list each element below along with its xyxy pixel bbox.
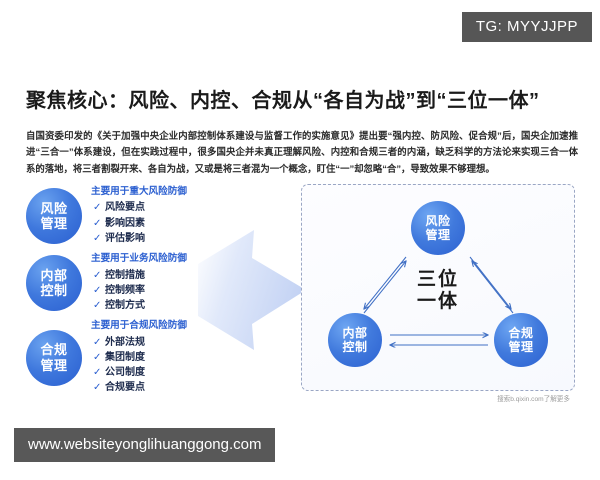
pillar-body-risk: 主要用于重大风险防御 ✓ 风险要点 ✓ 影响因素 ✓ 评估影响 [91, 186, 187, 246]
pillar-circle-risk: 风险 管理 [26, 188, 82, 244]
center-label-line2: 一体 [395, 291, 481, 313]
page-title: 聚焦核心：风险、内控、合规从“各自为战”到“三位一体” [26, 84, 540, 113]
pillar-item: ✓ 影响因素 [91, 216, 187, 231]
triangle-diagram-panel: 风险 管理 内部 控制 合规 管理 三位 一体 搜索b.qixin.com了解更… [301, 184, 575, 391]
pillar-item-label: 控制方式 [105, 300, 145, 311]
pillar-item-label: 控制措施 [105, 270, 145, 281]
node-internal-control: 内部 控制 [328, 313, 382, 367]
node-line1: 合规 [508, 326, 533, 340]
check-icon: ✓ [93, 231, 101, 246]
pillar-item: ✓ 公司制度 [91, 365, 187, 380]
check-icon: ✓ [93, 283, 101, 298]
check-icon: ✓ [93, 216, 101, 231]
pillar-circle-line2: 管理 [40, 216, 67, 231]
check-icon: ✓ [93, 298, 101, 313]
pillar-item: ✓ 风险要点 [91, 200, 187, 215]
check-icon: ✓ [93, 365, 101, 380]
pillar-body-internal-control: 主要用于业务风险防御 ✓ 控制措施 ✓ 控制频率 ✓ 控制方式 [91, 253, 187, 313]
tg-watermark-badge: TG: MYYJJPP [462, 12, 592, 42]
pillar-circle-compliance: 合规 管理 [26, 330, 82, 386]
right-arrow-icon [196, 228, 308, 353]
node-line2: 管理 [508, 340, 533, 354]
pillar-circle-line2: 控制 [40, 283, 67, 298]
check-icon: ✓ [93, 335, 101, 350]
pillar-item-label: 风险要点 [105, 202, 145, 213]
node-line2: 管理 [425, 228, 450, 242]
pillar-circle-line1: 内部 [40, 268, 67, 283]
url-watermark-badge: www.websiteyonglihuanggong.com [14, 428, 275, 462]
node-line1: 内部 [342, 326, 367, 340]
pillar-item-label: 合规要点 [105, 382, 145, 393]
pillar-item: ✓ 控制措施 [91, 268, 187, 283]
pillar-item-label: 外部法规 [105, 337, 145, 348]
pillar-circle-line2: 管理 [40, 358, 67, 373]
panel-credit-text: 搜索b.qixin.com了解更多 [497, 393, 570, 403]
intro-paragraph: 自国资委印发的《关于加强中央企业内部控制体系建设与监督工作的实施意见》提出要“强… [26, 128, 578, 177]
pillar-item-label: 公司制度 [105, 367, 145, 378]
check-icon: ✓ [93, 350, 101, 365]
node-line2: 控制 [342, 340, 367, 354]
pillar-body-compliance: 主要用于合规风险防御 ✓ 外部法规 ✓ 集团制度 ✓ 公司制度 ✓ 合规要点 [91, 320, 187, 395]
pillar-item-label: 控制频率 [105, 285, 145, 296]
pillar-item: ✓ 评估影响 [91, 231, 187, 246]
node-line1: 风险 [425, 214, 450, 228]
pillar-item-label: 集团制度 [105, 352, 145, 363]
pillar-item: ✓ 合规要点 [91, 380, 187, 395]
pillar-item: ✓ 控制频率 [91, 283, 187, 298]
pillar-heading: 主要用于合规风险防御 [91, 320, 187, 332]
center-label-line1: 三位 [395, 269, 481, 291]
pillar-item-label: 影响因素 [105, 218, 145, 229]
check-icon: ✓ [93, 268, 101, 283]
check-icon: ✓ [93, 200, 101, 215]
pillar-item: ✓ 控制方式 [91, 298, 187, 313]
pillar-item: ✓ 集团制度 [91, 350, 187, 365]
pillar-heading: 主要用于业务风险防御 [91, 253, 187, 265]
pillar-circle-line1: 合规 [40, 342, 67, 357]
pillar-item-label: 评估影响 [105, 233, 145, 244]
node-compliance-management: 合规 管理 [494, 313, 548, 367]
node-risk-management: 风险 管理 [411, 201, 465, 255]
pillar-circle-line1: 风险 [40, 201, 67, 216]
check-icon: ✓ [93, 380, 101, 395]
pillar-heading: 主要用于重大风险防御 [91, 186, 187, 198]
pillar-item: ✓ 外部法规 [91, 335, 187, 350]
center-label: 三位 一体 [395, 269, 481, 313]
pillar-circle-internal-control: 内部 控制 [26, 255, 82, 311]
